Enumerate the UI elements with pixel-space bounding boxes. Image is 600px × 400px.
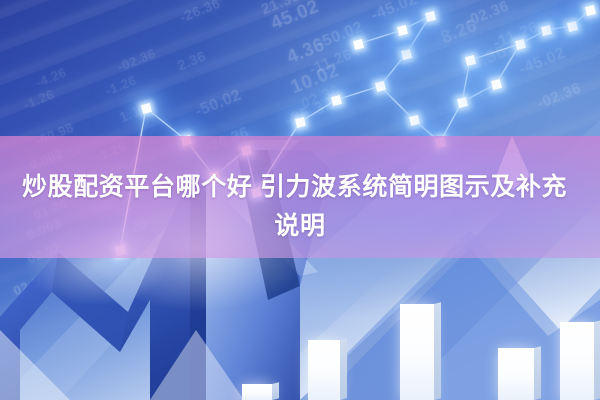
headline-line-1: 炒股配资平台哪个好 引力波系统简明图示及补充 <box>22 168 578 207</box>
network-node <box>541 25 552 36</box>
network-node <box>567 21 578 32</box>
network-node <box>425 11 436 22</box>
network-node <box>401 49 412 60</box>
network-node <box>331 95 342 106</box>
network-node <box>457 97 468 108</box>
network-node <box>353 39 364 50</box>
network-node <box>465 55 476 66</box>
banner-image: -45.02-02.3621.36-50.02-11.2645.024.36-4… <box>0 0 600 400</box>
network-node <box>585 5 596 16</box>
network-node <box>515 39 526 50</box>
network-node <box>491 79 502 90</box>
network-node <box>295 117 306 128</box>
headline-text: 炒股配资平台哪个好 引力波系统简明图示及补充 说明 <box>22 168 578 246</box>
network-node <box>375 81 386 92</box>
network-node <box>397 25 408 36</box>
network-node <box>141 103 152 114</box>
network-node <box>409 115 420 126</box>
headline-line-2: 说明 <box>22 207 578 246</box>
